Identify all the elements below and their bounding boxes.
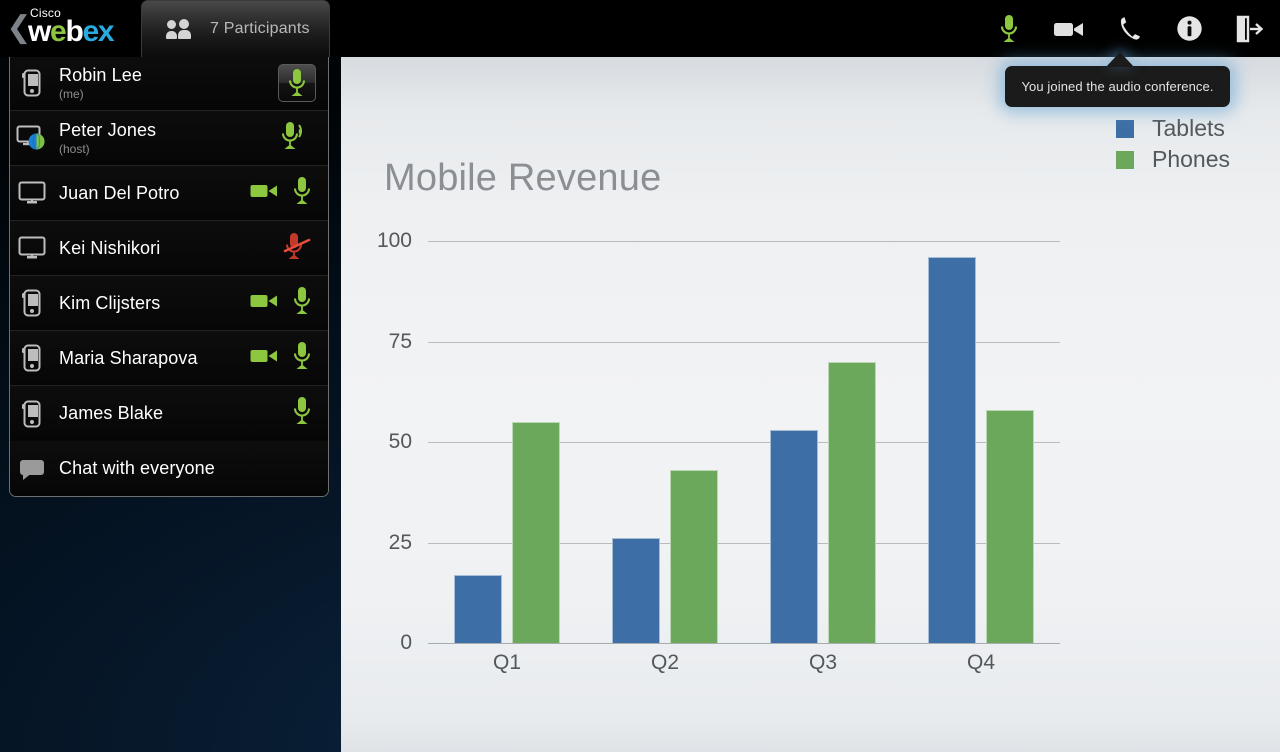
microphone-button[interactable] bbox=[992, 10, 1026, 48]
mic-on-icon bbox=[287, 68, 307, 98]
participant-name-block: Maria Sharapova bbox=[54, 348, 250, 369]
shared-content-panel: Mobile Revenue 0255075100Q1Q2Q3Q4 Tablet… bbox=[341, 57, 1280, 752]
chart-bar-group bbox=[454, 241, 560, 643]
legend-item: Tablets bbox=[1116, 113, 1276, 144]
participants-panel: Robin Lee(me)Peter Jones(host)Juan Del P… bbox=[9, 56, 329, 497]
mobile-phone-icon bbox=[10, 400, 54, 428]
participant-name: Robin Lee bbox=[59, 65, 278, 86]
mobile-phone-icon bbox=[10, 69, 54, 97]
participant-row[interactable]: Robin Lee(me) bbox=[10, 56, 328, 111]
chart-bar bbox=[828, 362, 876, 643]
mic-on-icon bbox=[292, 341, 312, 371]
monitor-icon bbox=[18, 236, 46, 260]
chart-bar bbox=[928, 257, 976, 643]
participant-name-block: Peter Jones(host) bbox=[54, 120, 280, 156]
participant-status-icons bbox=[278, 64, 328, 102]
mobile-phone-icon bbox=[22, 344, 42, 372]
participant-name-block: Robin Lee(me) bbox=[54, 65, 278, 101]
mic-on-icon bbox=[292, 396, 312, 426]
cisco-webex-logo: Cisco webex bbox=[28, 5, 140, 51]
mobile-phone-icon bbox=[22, 400, 42, 428]
mic-on-icon bbox=[292, 286, 312, 316]
participant-row[interactable]: Peter Jones(host) bbox=[10, 111, 328, 166]
mic-on-icon[interactable] bbox=[292, 396, 312, 431]
tooltip-text: You joined the audio conference. bbox=[1021, 79, 1213, 94]
chart-bar-group bbox=[612, 241, 718, 643]
chart-bar-group bbox=[928, 241, 1034, 643]
info-button[interactable] bbox=[1172, 10, 1206, 48]
chart-bar bbox=[612, 538, 660, 643]
top-bar: ❮ Cisco webex 7 Participants bbox=[0, 0, 1280, 57]
chart-bar bbox=[986, 410, 1034, 643]
x-axis-tick-label: Q4 bbox=[928, 651, 1034, 675]
chart-plot-area: 0255075100Q1Q2Q3Q4 bbox=[428, 241, 1060, 643]
tooltip-arrow-icon bbox=[1106, 52, 1134, 67]
mic-muted-icon[interactable] bbox=[282, 231, 312, 266]
x-axis-tick-label: Q2 bbox=[612, 651, 718, 675]
topbar-actions bbox=[992, 0, 1266, 57]
legend-item: Phones bbox=[1116, 144, 1276, 175]
chat-row-labels: Chat with everyone bbox=[54, 458, 328, 479]
chat-bubble-icon bbox=[10, 458, 54, 480]
mic-on-icon[interactable] bbox=[292, 341, 312, 376]
participant-status-icons bbox=[250, 176, 328, 211]
participant-status-icons bbox=[280, 121, 328, 156]
monitor-icon bbox=[18, 181, 46, 205]
participants-list: Robin Lee(me)Peter Jones(host)Juan Del P… bbox=[10, 56, 328, 441]
participant-name: Kim Clijsters bbox=[59, 293, 250, 314]
mic-toggle-button[interactable] bbox=[278, 64, 316, 102]
x-axis-tick-label: Q1 bbox=[454, 651, 560, 675]
participant-role: (me) bbox=[59, 87, 278, 101]
monitor-icon bbox=[10, 181, 54, 205]
mic-speaking-icon[interactable] bbox=[280, 121, 312, 156]
participant-status-icons bbox=[250, 341, 328, 376]
participant-name-block: James Blake bbox=[54, 403, 292, 424]
chat-row-label: Chat with everyone bbox=[59, 458, 215, 478]
webex-app-window: ❮ Cisco webex 7 Participants bbox=[0, 0, 1280, 752]
info-circle-icon bbox=[1176, 15, 1203, 42]
mic-on-icon bbox=[292, 176, 312, 206]
legend-label: Tablets bbox=[1152, 115, 1225, 142]
microphone-icon bbox=[998, 14, 1020, 44]
participant-row[interactable]: Juan Del Potro bbox=[10, 166, 328, 221]
y-axis-tick-label: 50 bbox=[389, 430, 412, 454]
participant-name: Kei Nishikori bbox=[59, 238, 282, 259]
participant-row[interactable]: Kei Nishikori bbox=[10, 221, 328, 276]
chart-gridline bbox=[428, 643, 1060, 644]
exit-door-icon bbox=[1235, 15, 1263, 43]
participant-status-icons bbox=[282, 231, 328, 266]
people-icon bbox=[166, 18, 196, 40]
chart-bar bbox=[512, 422, 560, 643]
brand-webex-text: webex bbox=[28, 16, 113, 48]
y-axis-tick-label: 0 bbox=[400, 631, 412, 655]
mic-on-icon[interactable] bbox=[292, 286, 312, 321]
participant-row[interactable]: Maria Sharapova bbox=[10, 331, 328, 386]
video-camera-icon bbox=[250, 293, 278, 309]
monitor-sharing-icon bbox=[10, 125, 54, 151]
call-button[interactable] bbox=[1112, 10, 1146, 48]
participant-name: Peter Jones bbox=[59, 120, 280, 141]
y-axis-tick-label: 25 bbox=[389, 531, 412, 555]
video-camera-icon[interactable] bbox=[250, 348, 278, 369]
mic-muted-icon bbox=[282, 231, 312, 261]
mobile-phone-icon bbox=[10, 344, 54, 372]
participant-status-icons bbox=[250, 286, 328, 321]
chart-bar-group bbox=[770, 241, 876, 643]
y-axis-tick-label: 100 bbox=[377, 229, 412, 253]
video-camera-icon[interactable] bbox=[250, 293, 278, 314]
video-camera-icon bbox=[250, 183, 278, 199]
leave-button[interactable] bbox=[1232, 10, 1266, 48]
chart-bar bbox=[770, 430, 818, 643]
y-axis-tick-label: 75 bbox=[389, 330, 412, 354]
legend-swatch bbox=[1116, 120, 1134, 138]
participant-name: Juan Del Potro bbox=[59, 183, 250, 204]
video-camera-icon bbox=[250, 348, 278, 364]
mic-speaking-icon bbox=[280, 121, 312, 151]
monitor-icon bbox=[10, 236, 54, 260]
participants-tab-label: 7 Participants bbox=[210, 20, 310, 38]
video-camera-icon[interactable] bbox=[250, 183, 278, 204]
chat-with-everyone-row[interactable]: Chat with everyone bbox=[10, 441, 328, 496]
video-button[interactable] bbox=[1052, 10, 1086, 48]
chart-title: Mobile Revenue bbox=[384, 157, 661, 200]
participant-role: (host) bbox=[59, 142, 280, 156]
audio-conference-tooltip: You joined the audio conference. bbox=[1005, 66, 1230, 107]
chart-bar bbox=[454, 575, 502, 643]
chart-bar bbox=[670, 470, 718, 643]
participant-name-block: Kim Clijsters bbox=[54, 293, 250, 314]
participant-status-icons bbox=[292, 396, 328, 431]
mobile-phone-icon bbox=[22, 69, 42, 97]
legend-label: Phones bbox=[1152, 146, 1230, 173]
phone-handset-icon bbox=[1117, 16, 1141, 42]
mic-on-icon[interactable] bbox=[292, 176, 312, 211]
legend-swatch bbox=[1116, 151, 1134, 169]
mobile-phone-icon bbox=[10, 289, 54, 317]
video-camera-icon bbox=[1053, 19, 1085, 39]
mobile-phone-icon bbox=[22, 289, 42, 317]
participant-row[interactable]: James Blake bbox=[10, 386, 328, 441]
participant-name: James Blake bbox=[59, 403, 292, 424]
participant-name: Maria Sharapova bbox=[59, 348, 250, 369]
participant-name-block: Juan Del Potro bbox=[54, 183, 250, 204]
chart-legend: TabletsPhones bbox=[1116, 113, 1276, 175]
participants-tab[interactable]: 7 Participants bbox=[141, 0, 330, 57]
x-axis-tick-label: Q3 bbox=[770, 651, 876, 675]
monitor-sharing-icon bbox=[16, 125, 48, 151]
participant-name-block: Kei Nishikori bbox=[54, 238, 282, 259]
participant-row[interactable]: Kim Clijsters bbox=[10, 276, 328, 331]
